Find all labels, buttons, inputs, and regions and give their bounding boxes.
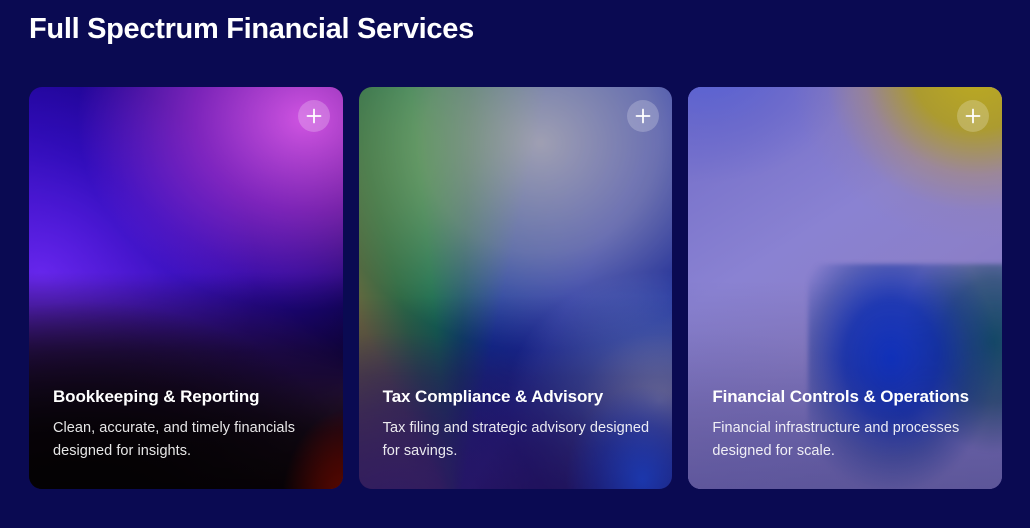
card-title: Tax Compliance & Advisory xyxy=(383,386,651,408)
page-title: Full Spectrum Financial Services xyxy=(29,10,474,48)
card-copy: Financial Controls & Operations Financia… xyxy=(712,386,980,463)
expand-card-button[interactable] xyxy=(627,100,659,132)
card-description: Financial infrastructure and processes d… xyxy=(712,417,980,463)
service-card-tax-compliance-advisory[interactable]: Tax Compliance & Advisory Tax filing and… xyxy=(359,87,673,489)
card-title: Bookkeeping & Reporting xyxy=(53,386,321,408)
plus-icon xyxy=(298,100,330,132)
card-copy: Tax Compliance & Advisory Tax filing and… xyxy=(383,386,651,463)
card-description: Clean, accurate, and timely financials d… xyxy=(53,417,321,463)
card-description: Tax filing and strategic advisory design… xyxy=(383,417,651,463)
service-card-grid: Bookkeeping & Reporting Clean, accurate,… xyxy=(29,87,1002,489)
services-section: Full Spectrum Financial Services Bookkee… xyxy=(0,0,1030,528)
service-card-financial-controls-operations[interactable]: Financial Controls & Operations Financia… xyxy=(688,87,1002,489)
plus-icon xyxy=(957,100,989,132)
expand-card-button[interactable] xyxy=(957,100,989,132)
card-copy: Bookkeeping & Reporting Clean, accurate,… xyxy=(53,386,321,463)
service-card-bookkeeping-reporting[interactable]: Bookkeeping & Reporting Clean, accurate,… xyxy=(29,87,343,489)
plus-icon xyxy=(627,100,659,132)
card-title: Financial Controls & Operations xyxy=(712,386,980,408)
expand-card-button[interactable] xyxy=(298,100,330,132)
